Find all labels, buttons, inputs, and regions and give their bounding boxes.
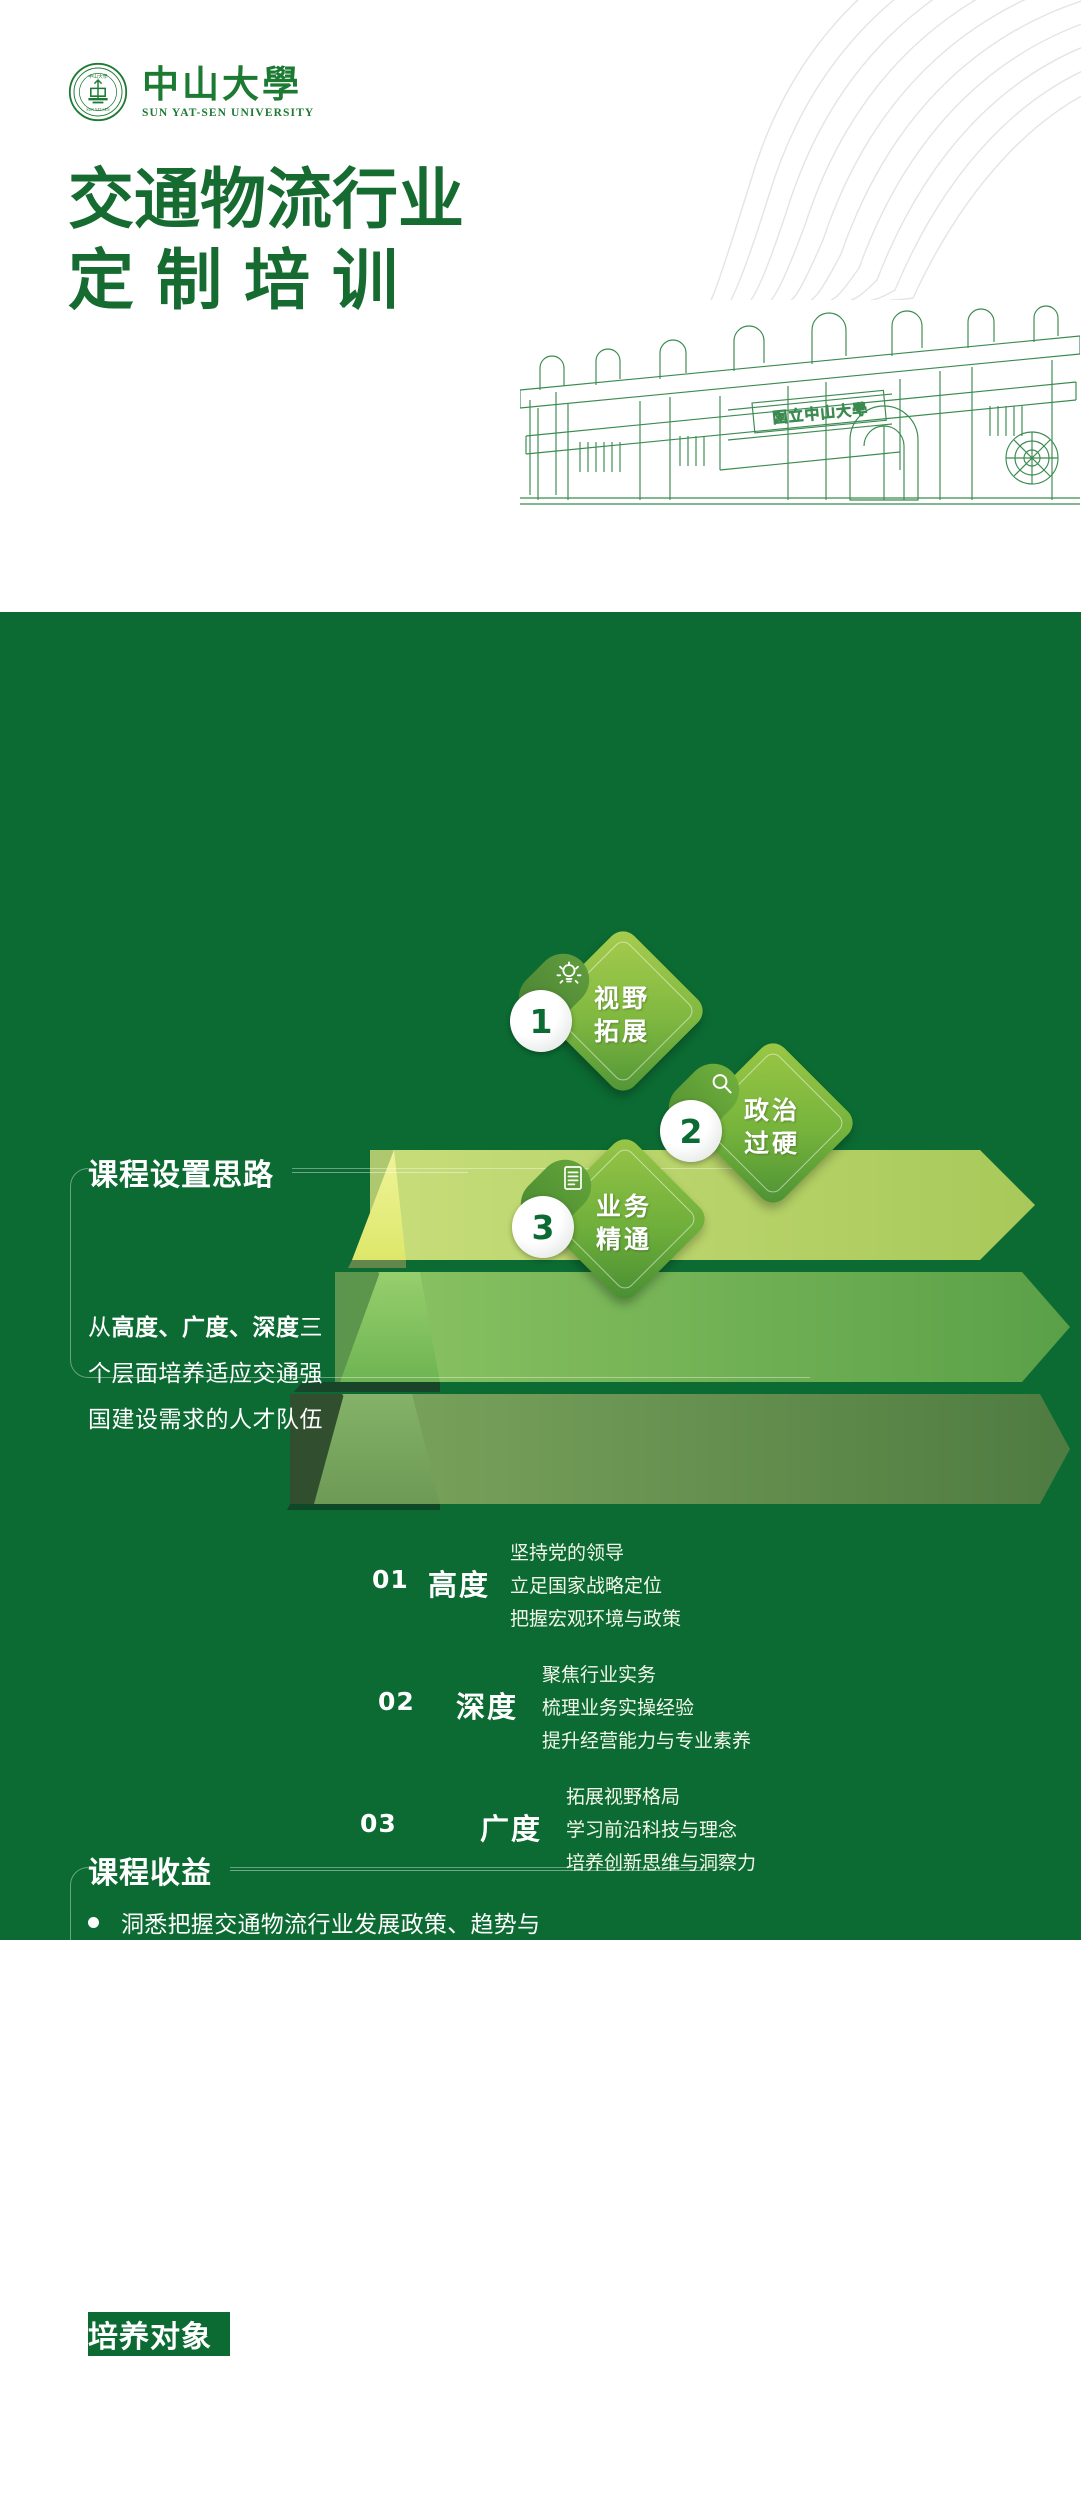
lightbulb-icon [554,959,584,989]
pyramid-level-1-line-3: 把握宏观环境与政策 [510,1603,681,1636]
benefit-text-2: 了解前沿产业技术在行业的应用场景、案例经验与发展布局； [121,2016,558,2104]
poster-header: 中山大學 SUN YAT-SEN 中山大學 SUN YAT-SEN UNIVER… [0,0,1081,612]
thinking-copy-strong: 高度、广度、深度 [112,1314,300,1340]
badge-3-label-line-2: 精通 [578,1223,670,1256]
pyramid-level-2-line-3: 提升经营能力与专业素养 [542,1725,751,1758]
svg-text:中山大學: 中山大學 [88,73,107,80]
benefits-list: 洞悉把握交通物流行业发展政策、趋势与重点任务； 了解前沿产业技术在行业的应用场景… [88,1902,558,2244]
list-item: 了解前沿产业技术在行业的应用场景、案例经验与发展布局； [88,2016,558,2104]
audience-rule [230,2334,708,2335]
pyramid-level-2-number: 02 [378,1687,415,1716]
list-item: 洞悉把握交通物流行业发展政策、趋势与重点任务； [88,1902,558,1990]
pyramid-level-1-number: 01 [372,1565,409,1594]
badge-3-label-line-1: 业务 [578,1190,670,1223]
pyramid-level-1-line-1: 坚持党的领导 [510,1537,681,1570]
pyramid-level-2-line-1: 聚焦行业实务 [542,1659,751,1692]
pyramid-level-2-lines: 聚焦行业实务 梳理业务实操经验 提升经营能力与专业素养 [542,1659,751,1758]
pyramid-level-1-keyword: 高度 [428,1562,490,1604]
thinking-rule [292,1172,468,1173]
thinking-heading: 课程设置思路 [88,1150,292,1194]
page-title: 交通物流行业 定制培训 [68,160,464,321]
badge-3-label: 业务 精通 [578,1190,670,1256]
bullet-dot-icon [88,2145,99,2156]
title-line-2: 定制培训 [68,241,464,322]
badge-1-label: 视野 拓展 [576,982,668,1048]
badge-2-label: 政治 过硬 [726,1094,818,1160]
sun-yat-sen-seal-icon: 中山大學 SUN YAT-SEN [68,62,128,122]
logo-english-name: SUN YAT-SEN UNIVERSITY [142,107,314,119]
checklist-icon [560,1164,586,1192]
pyramid-level-3-line-2: 学习前沿科技与理念 [566,1814,756,1847]
list-item: 提高交通物流干部的思想政治站位、业务能力和管理创新本领。 [88,2130,558,2218]
benefit-text-1: 洞悉把握交通物流行业发展政策、趋势与重点任务； [121,1902,558,1990]
pyramid-level-3-keyword: 广度 [480,1806,542,1848]
thinking-copy-prefix: 从 [88,1314,112,1340]
audience-heading: 培养对象 [88,2312,230,2356]
pyramid-level-3-number: 03 [360,1809,397,1838]
badge-2-number: 2 [660,1100,722,1162]
title-line-1: 交通物流行业 [68,160,464,241]
pyramid-level-1-lines: 坚持党的领导 立足国家战略定位 把握宏观环境与政策 [510,1537,681,1636]
badge-1-label-line-2: 拓展 [576,1015,668,1048]
bullet-dot-icon [88,2031,99,2042]
badge-2-label-line-2: 过硬 [726,1127,818,1160]
thinking-copy: 从高度、广度、深度三个层面培养适应交通强国建设需求的人才队伍 [88,1304,338,1442]
badge-2-label-line-1: 政治 [726,1094,818,1127]
badge-1-label-line-1: 视野 [576,982,668,1015]
pyramid-level-1-line-2: 立足国家战略定位 [510,1570,681,1603]
section-benefits: 课程收益 [88,1848,708,1892]
magnifier-icon [708,1070,736,1098]
badge-3-number: 3 [512,1196,574,1258]
audience-copy: 交通、物流行业企业管理者，各省市、自治区、直辖市等交通运输系统干部 [88,2360,728,2460]
section-thinking: 课程设置思路 [88,1150,468,1194]
logo-chinese-name: 中山大學 [142,65,314,105]
pyramid-level-2-line-2: 梳理业务实操经验 [542,1692,751,1725]
bullet-dot-icon [88,1917,99,1928]
svg-text:SUN YAT-SEN: SUN YAT-SEN [86,108,110,112]
sun-yat-sen-gate-illustration: 學大山中立國 [520,240,1080,505]
poster-body: 01 高度 坚持党的领导 立足国家战略定位 把握宏观环境与政策 02 深度 聚焦… [0,612,1081,1940]
badge-1-number: 1 [510,990,572,1052]
benefits-heading: 课程收益 [88,1848,230,1892]
pyramid-level-3-line-1: 拓展视野格局 [566,1781,756,1814]
benefits-rule [230,1870,708,1871]
university-logo: 中山大學 SUN YAT-SEN 中山大學 SUN YAT-SEN UNIVER… [68,62,314,122]
benefit-text-3: 提高交通物流干部的思想政治站位、业务能力和管理创新本领。 [121,2130,558,2218]
pyramid-level-2-keyword: 深度 [456,1684,518,1726]
section-audience: 培养对象 [88,2312,708,2356]
